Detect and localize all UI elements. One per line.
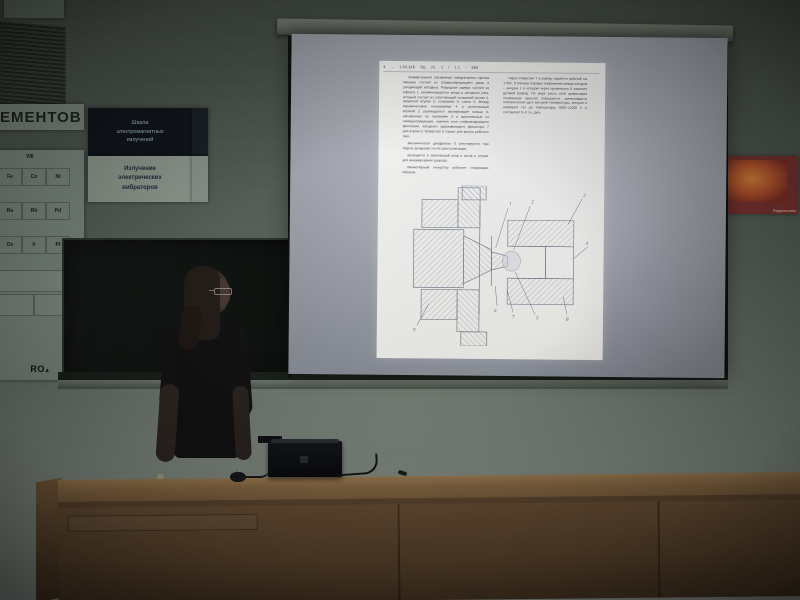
periodic-cell-blank bbox=[0, 270, 70, 292]
poster-vibrators-line3: вибраторов bbox=[122, 184, 158, 194]
page-header-part: ЭЦ bbox=[420, 65, 426, 69]
poster-caption-right: Радиоволны bbox=[773, 208, 796, 213]
presenter bbox=[150, 266, 268, 482]
ventilation-grille-icon bbox=[0, 21, 66, 115]
poster-periodic-table-title: ЕМЕНТОВ bbox=[0, 104, 84, 130]
cross-section-svg: 1 2 3 4 5 6 7 8 9 bbox=[395, 185, 593, 347]
periodic-cell: Co bbox=[22, 168, 46, 186]
periodic-cell: Os bbox=[0, 236, 22, 254]
poster-em-scale-edge bbox=[192, 108, 208, 156]
projected-slide-page: 4 → 1.03.145 ЭЦ сб. 1 / 1.1 - 559 Универ… bbox=[377, 61, 606, 360]
poster-em-scale-line1: Шкала bbox=[132, 119, 149, 128]
poster-top-fragment bbox=[4, 0, 64, 18]
drawing-callout: 1 bbox=[509, 202, 512, 207]
drawing-callout: 7 bbox=[512, 315, 515, 320]
slide-paragraph: Миниатюрный генератор работает следующим… bbox=[402, 166, 488, 177]
periodic-group-label: VIII bbox=[26, 154, 34, 160]
periodic-cell: Ir bbox=[22, 236, 46, 254]
poster-em-scale-line3: излучений bbox=[127, 136, 154, 145]
poster-em-scale: Шкала электромагнитных излучений bbox=[88, 108, 192, 156]
slide-right-column: Через отверстие 7 в камеру подаётся рабо… bbox=[503, 76, 587, 118]
poster-vibrators-line1: Излучение bbox=[124, 165, 156, 175]
drawing-callout: 3 bbox=[583, 194, 586, 199]
page-header-part: - bbox=[465, 66, 466, 70]
page-header-part: 4 bbox=[383, 65, 385, 69]
laptop-hinge bbox=[271, 439, 339, 443]
poster-vibrators: Излучение электрических вибраторов bbox=[88, 156, 192, 202]
poster-periodic-title-text: ЕМЕНТОВ bbox=[0, 109, 82, 126]
poster-em-scale-line2: электромагнитных bbox=[116, 128, 163, 137]
drawing-callout: 4 bbox=[586, 242, 589, 247]
slide-paragraph: Через отверстие 7 в камеру подаётся рабо… bbox=[503, 76, 587, 116]
lecture-hall-photo: ЕМЕНТОВ VIII Fe Co Ni Ru Rh Pd Os Ir Pt … bbox=[0, 0, 800, 600]
drawing-callout: 6 bbox=[494, 309, 497, 314]
drawing-callout: 2 bbox=[531, 200, 534, 205]
page-header-part: 1.03.145 bbox=[399, 65, 415, 69]
desk-drawer[interactable] bbox=[68, 514, 258, 532]
page-header-part: 1 bbox=[441, 66, 443, 70]
periodic-cell: Ru bbox=[0, 202, 22, 220]
mouse[interactable] bbox=[230, 472, 246, 482]
periodic-cell: Rh bbox=[22, 202, 46, 220]
desk-mark bbox=[157, 474, 164, 479]
engineering-drawing: 1 2 3 4 5 6 7 8 9 bbox=[395, 185, 593, 347]
periodic-cell: Ni bbox=[46, 168, 70, 186]
page-header-part: → bbox=[391, 65, 395, 69]
page-header-part: сб. bbox=[431, 65, 437, 69]
slide-paragraph: проводятся в зажигающий анод и катод и с… bbox=[402, 153, 488, 164]
drawing-callout: 9 bbox=[413, 328, 416, 333]
drawing-callout: 5 bbox=[536, 316, 539, 321]
page-header-part: 559 bbox=[471, 66, 478, 70]
laptop-logo bbox=[300, 456, 308, 463]
periodic-cell: Pd bbox=[46, 202, 70, 220]
poster-vibrators-edge bbox=[192, 156, 208, 202]
drawing-callout: 8 bbox=[566, 318, 569, 323]
slide-left-column: Универсальная плазменная лабораторная го… bbox=[402, 75, 489, 178]
page-header-part: 1.1 bbox=[454, 66, 460, 70]
periodic-cell: Fe bbox=[0, 168, 22, 186]
slide-paragraph: Универсальная плазменная лабораторная го… bbox=[403, 75, 490, 139]
page-header-part: / bbox=[448, 66, 449, 70]
poster-illustration bbox=[728, 160, 788, 202]
glasses-icon bbox=[214, 288, 232, 295]
laptop[interactable] bbox=[268, 441, 342, 477]
periodic-cell-blank bbox=[0, 294, 34, 316]
poster-vibrators-line2: электрических bbox=[118, 174, 162, 184]
slide-paragraph: Механическая диафрагма 8 регулируется пр… bbox=[403, 141, 489, 152]
desk-front-panel bbox=[58, 500, 800, 600]
